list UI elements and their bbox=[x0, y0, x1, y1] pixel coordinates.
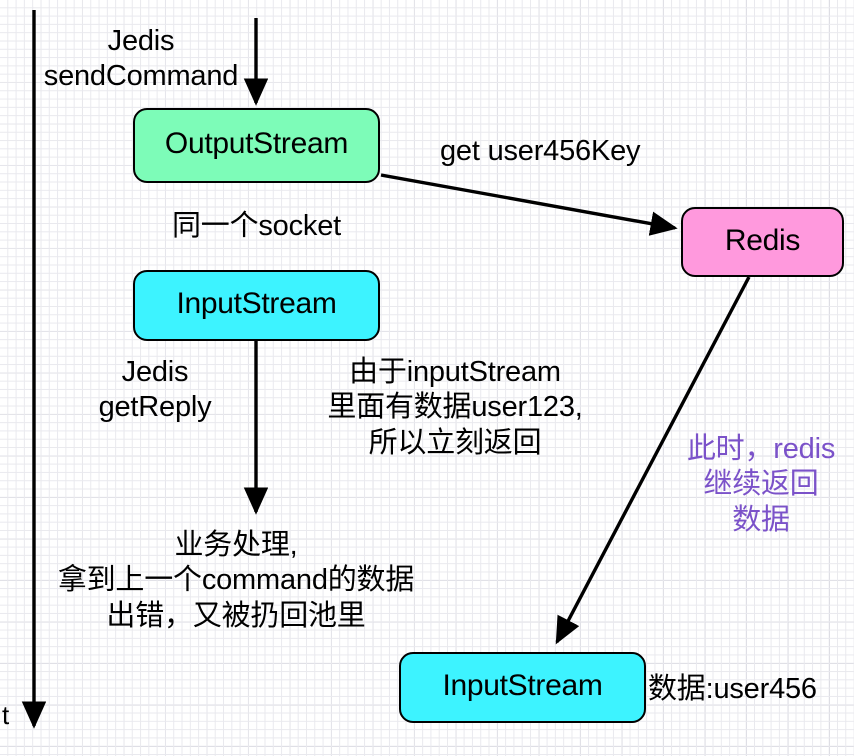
arrow-output-stream-to-redis bbox=[381, 175, 675, 228]
annotation-jedis-get-reply-line-2: getReply bbox=[99, 391, 212, 423]
annotation-redis-keeps-returning: 此时，redis继续返回数据 bbox=[668, 432, 854, 538]
annotation-input-stream-has-data-line-3: 所以立刻返回 bbox=[369, 427, 542, 459]
annotation-jedis-get-reply: JedisgetReply bbox=[80, 355, 230, 426]
node-input-stream-bottom-label: InputStream bbox=[442, 671, 602, 704]
node-redis-label: Redis bbox=[725, 226, 800, 259]
node-input-stream-top[interactable]: InputStream bbox=[133, 270, 380, 341]
annotation-data-user456: 数据:user456 bbox=[648, 672, 817, 707]
node-redis[interactable]: Redis bbox=[681, 207, 844, 277]
time-axis-label-text: t bbox=[2, 700, 9, 730]
node-input-stream-top-label: InputStream bbox=[176, 289, 336, 322]
annotation-jedis-send-command-line-2: sendCommand bbox=[44, 60, 238, 92]
annotation-same-socket-line-1: 同一个socket bbox=[172, 210, 341, 242]
annotation-data-user456-line-1: 数据:user456 bbox=[648, 673, 817, 705]
annotation-same-socket: 同一个socket bbox=[133, 209, 380, 244]
annotation-jedis-send-command-line-1: Jedis bbox=[108, 25, 175, 57]
annotation-get-user456-key: get user456Key bbox=[440, 134, 640, 169]
annotation-redis-keeps-returning-line-2: 继续返回 bbox=[703, 468, 818, 500]
annotation-input-stream-has-data-line-1: 由于inputStream bbox=[349, 356, 561, 388]
annotation-business-processing-line-1: 业务处理, bbox=[174, 529, 297, 561]
annotation-jedis-send-command: JedissendCommand bbox=[16, 24, 266, 95]
annotation-input-stream-has-data: 由于inputStream里面有数据user123,所以立刻返回 bbox=[296, 355, 614, 461]
annotation-redis-keeps-returning-line-1: 此时，redis bbox=[687, 433, 835, 465]
annotation-get-user456-key-line-1: get user456Key bbox=[440, 135, 640, 167]
diagram-canvas: OutputStream InputStream Redis InputStre… bbox=[0, 0, 854, 756]
annotation-redis-keeps-returning-line-3: 数据 bbox=[732, 504, 790, 536]
node-input-stream-bottom[interactable]: InputStream bbox=[399, 652, 646, 723]
node-output-stream-label: OutputStream bbox=[165, 129, 348, 162]
annotation-business-processing-line-2: 拿到上一个command的数据 bbox=[58, 564, 414, 596]
annotation-input-stream-has-data-line-2: 里面有数据user123, bbox=[327, 391, 582, 423]
node-output-stream[interactable]: OutputStream bbox=[133, 108, 380, 183]
annotation-business-processing-line-3: 出错，又被扔回池里 bbox=[106, 600, 365, 632]
annotation-jedis-get-reply-line-1: Jedis bbox=[122, 356, 189, 388]
time-axis-label: t bbox=[2, 700, 9, 731]
annotation-business-processing: 业务处理,拿到上一个command的数据出错，又被扔回池里 bbox=[16, 528, 456, 634]
